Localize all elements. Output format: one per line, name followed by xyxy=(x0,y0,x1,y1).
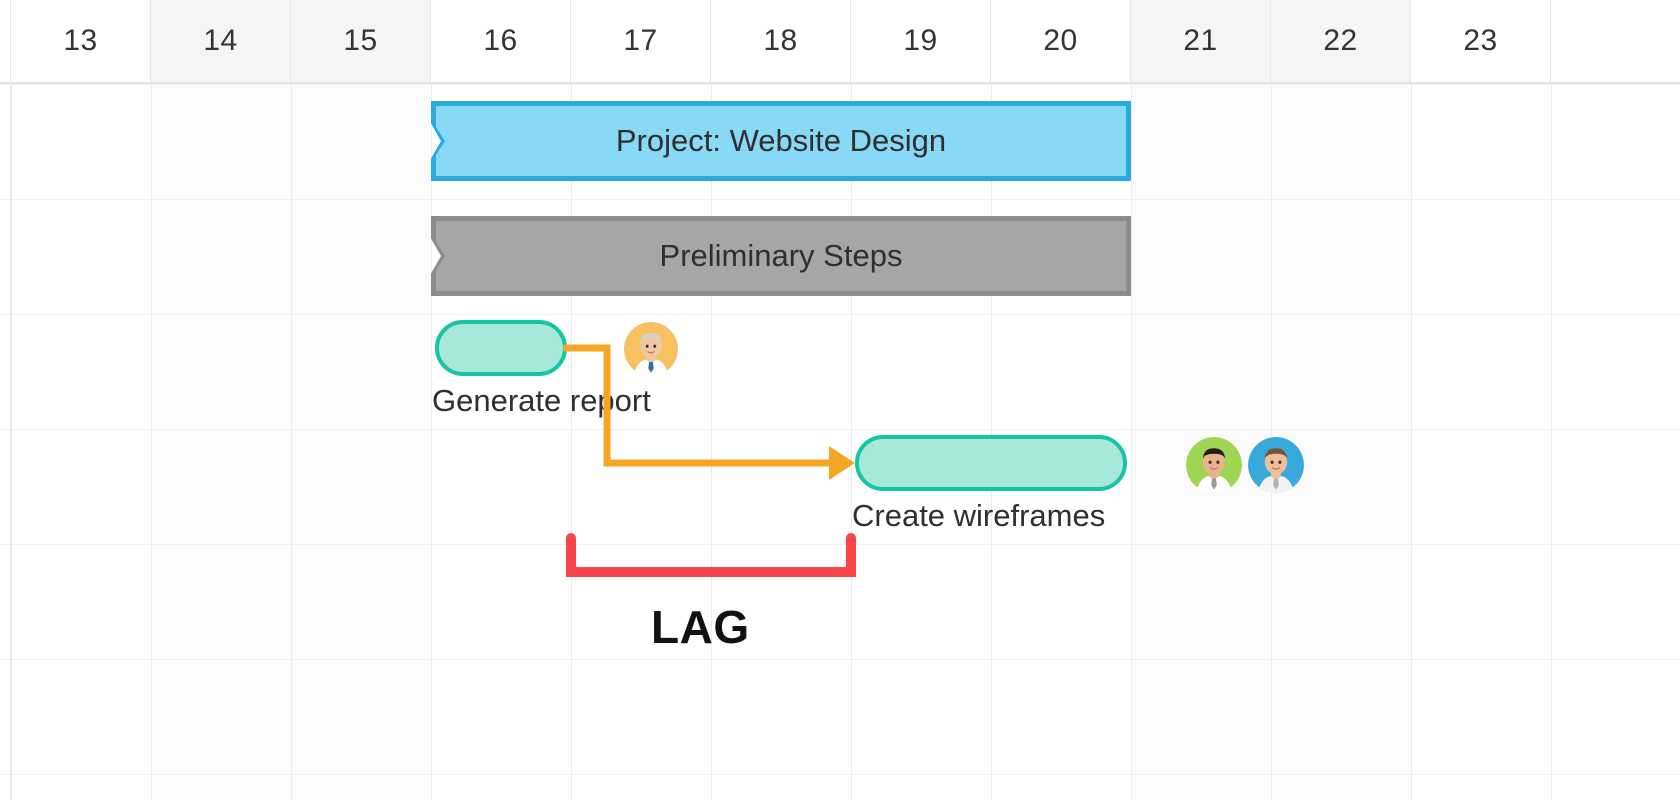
grid-column-line xyxy=(571,84,572,800)
gantt-chart: 1314151617181920212223 Project: Website … xyxy=(0,0,1680,800)
timeline-day-17[interactable]: 17 xyxy=(571,0,711,82)
timeline-day-label: 19 xyxy=(903,24,937,58)
summary-bar-project[interactable]: Project: Website Design xyxy=(431,101,1131,181)
avatar-assignee-generate-report[interactable] xyxy=(624,322,678,376)
timeline-day-label: 22 xyxy=(1323,24,1357,58)
timeline-header: 1314151617181920212223 xyxy=(0,0,1680,84)
avatar-assignee-wireframes-2[interactable] xyxy=(1248,437,1304,493)
weekend-tint-band xyxy=(291,84,431,800)
timeline-day-label: 23 xyxy=(1463,24,1497,58)
timeline-day-13[interactable]: 13 xyxy=(11,0,151,82)
timeline-day-19[interactable]: 19 xyxy=(851,0,991,82)
lag-annotation-label: LAG xyxy=(0,600,1680,654)
grid-row-line xyxy=(0,314,1680,315)
summary-bar-preliminary-label: Preliminary Steps xyxy=(660,238,903,274)
grid-row-line xyxy=(0,659,1680,660)
timeline-day-label: 13 xyxy=(63,24,97,58)
grid-column-line xyxy=(711,84,712,800)
timeline-day-20[interactable]: 20 xyxy=(991,0,1131,82)
task-bar-create-wireframes[interactable] xyxy=(855,435,1127,491)
grid-row-line xyxy=(0,429,1680,430)
timeline-day-label: 17 xyxy=(623,24,657,58)
timeline-day-label: 15 xyxy=(343,24,377,58)
timeline-day-15[interactable]: 15 xyxy=(291,0,431,82)
avatar-image xyxy=(624,322,678,376)
timeline-day-21[interactable]: 21 xyxy=(1131,0,1271,82)
timeline-day-label: 14 xyxy=(203,24,237,58)
grid-row-line xyxy=(0,199,1680,200)
grid-column-line xyxy=(1551,84,1552,800)
grid-column-line xyxy=(431,84,432,800)
task-bar-generate-report[interactable] xyxy=(435,320,567,376)
weekend-tint-band xyxy=(151,84,291,800)
timeline-day-22[interactable]: 22 xyxy=(1271,0,1411,82)
grid-column-line xyxy=(851,84,852,800)
timeline-day-14[interactable]: 14 xyxy=(151,0,291,82)
grid-left-edge xyxy=(10,0,11,800)
timeline-day-label: 20 xyxy=(1043,24,1077,58)
avatar-image xyxy=(1186,437,1242,493)
timeline-day-18[interactable]: 18 xyxy=(711,0,851,82)
grid-row-line xyxy=(0,774,1680,775)
avatar-image xyxy=(1248,437,1304,493)
grid-column-line xyxy=(1411,84,1412,800)
timeline-day-23[interactable]: 23 xyxy=(1411,0,1551,82)
summary-bar-preliminary-steps[interactable]: Preliminary Steps xyxy=(431,216,1131,296)
timeline-day-label: 16 xyxy=(483,24,517,58)
timeline-day-label: 21 xyxy=(1183,24,1217,58)
grid-row-line xyxy=(0,84,1680,85)
grid-column-line xyxy=(11,84,12,800)
timeline-day-label: 18 xyxy=(763,24,797,58)
summary-bar-project-label: Project: Website Design xyxy=(616,123,946,159)
grid-column-line xyxy=(291,84,292,800)
task-label-create-wireframes: Create wireframes xyxy=(852,498,1105,534)
grid-row-line xyxy=(0,544,1680,545)
grid-column-line xyxy=(1131,84,1132,800)
task-label-generate-report: Generate report xyxy=(432,383,651,419)
grid-column-line xyxy=(151,84,152,800)
timeline-day-16[interactable]: 16 xyxy=(431,0,571,82)
avatar-assignee-wireframes-1[interactable] xyxy=(1186,437,1242,493)
